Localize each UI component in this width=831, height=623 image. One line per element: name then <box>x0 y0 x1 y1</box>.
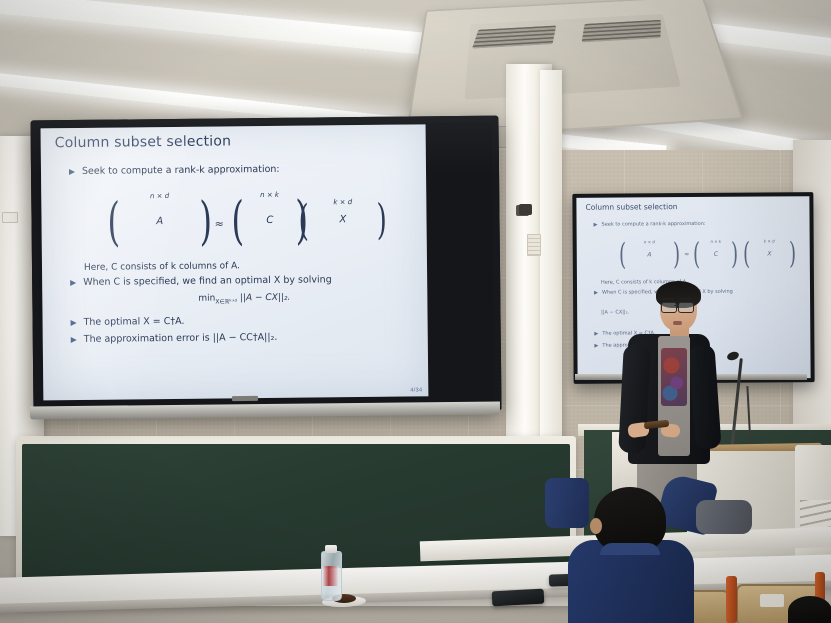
bottle-label <box>322 566 339 586</box>
student-shoulder <box>696 500 752 534</box>
display-brand-logo <box>232 396 258 401</box>
main-display[interactable]: Column subset selection Seek to compute … <box>30 116 501 416</box>
matrix-x-label: k × d <box>752 238 786 244</box>
smartphone[interactable] <box>492 589 545 607</box>
matrix-c-label: n × k <box>703 238 729 244</box>
wall-switch-plate[interactable] <box>527 234 541 256</box>
min-operator: min <box>198 293 215 303</box>
wall-switch-plate[interactable] <box>2 212 18 223</box>
slide-bullet: The approximation error is ||A − CC†A||₂… <box>69 331 421 347</box>
slide-bullet: Seek to compute a rank-k approximation: <box>67 162 419 178</box>
matrix-a-label: n × d <box>628 239 670 245</box>
ac-inner-panel <box>465 14 681 100</box>
presentation-slide: Column subset selection Seek to compute … <box>41 124 429 400</box>
side-student-head <box>788 596 831 623</box>
student-torso <box>545 478 589 528</box>
presenter-eyebrow <box>679 298 691 300</box>
glasses-bridge <box>674 305 679 306</box>
bottle-cap <box>325 545 337 553</box>
secondary-bullet: Seek to compute a rank-k approximation: <box>593 220 798 229</box>
secondary-min: ||A − CX||₂. <box>601 308 798 317</box>
slide-bullet: When C is specified, we find an optimal … <box>68 273 420 289</box>
presenter-mouth <box>673 321 682 325</box>
motion-sensor-icon <box>519 204 532 215</box>
approx-symbol: ≈ <box>214 217 223 230</box>
secondary-slide-title: Column subset selection <box>585 202 677 212</box>
slide-page-number: 4/34 <box>410 387 422 393</box>
matrix-a-name: A <box>647 250 651 259</box>
pillar-center-inner <box>540 70 562 482</box>
matrix-equation: ( n × d A ) ≈ ( n × k C <box>67 181 420 259</box>
lecture-hall-photo: Column subset selection Seek to compute … <box>0 0 831 623</box>
glasses-icon <box>678 302 694 313</box>
matrix-x-name: X <box>339 214 346 225</box>
matrix-x-name: X <box>767 249 771 258</box>
min-subscript: X∈ℝᵏˣᵈ <box>215 298 237 305</box>
min-objective: ||A − CX||₂. <box>240 292 291 303</box>
glasses-icon <box>661 302 677 313</box>
minimization-expression: minX∈ℝᵏˣᵈ ||A − CX||₂. <box>68 291 420 307</box>
front-student-collar <box>600 543 660 555</box>
matrix-c-label: n × k <box>248 191 292 199</box>
matrix-c-name: C <box>714 250 718 259</box>
presenter-eyebrow <box>662 298 674 300</box>
approx-symbol: ≈ <box>684 250 689 259</box>
slide-body: Seek to compute a rank-k approximation: … <box>67 162 421 352</box>
secondary-matrix-equation: ( n × d A ) ≈ ( n × k C ) ( <box>593 232 798 275</box>
chair-label <box>760 594 784 607</box>
slide-bullet: The optimal X = C†A. <box>69 313 421 329</box>
matrix-a-label: n × d <box>124 192 196 201</box>
ac-vent-icon <box>581 20 660 42</box>
chair-post <box>726 576 737 623</box>
slide-title: Column subset selection <box>55 133 232 151</box>
secondary-note: Here, C consists of k columns of A. <box>601 278 798 287</box>
matrix-c-name: C <box>266 215 273 226</box>
matrix-a-name: A <box>156 216 163 227</box>
front-student-ear <box>590 518 602 534</box>
matrix-x-label: k × d <box>312 198 374 207</box>
slide-note: Here, C consists of k columns of A. <box>84 259 420 273</box>
ac-vent-icon <box>472 25 556 48</box>
presenter-shirt-graphic <box>661 348 687 406</box>
